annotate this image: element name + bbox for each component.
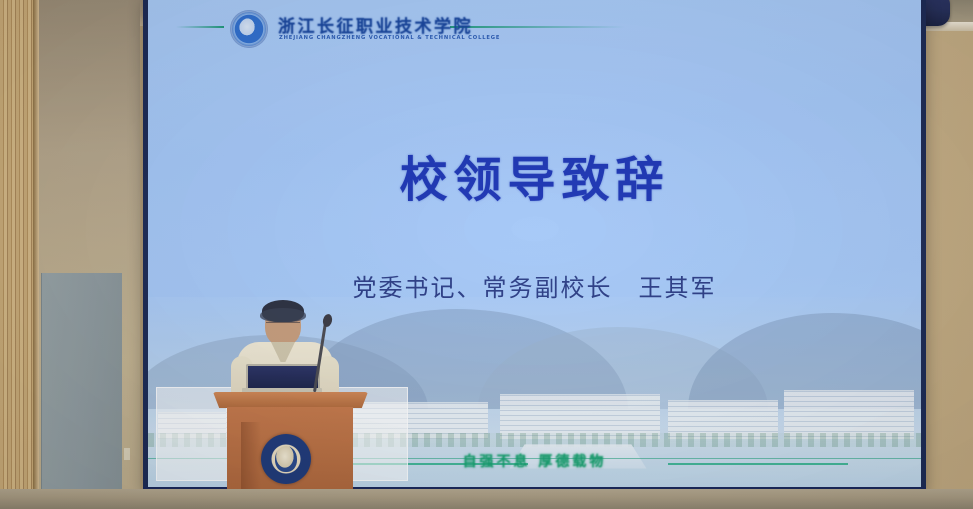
speaker-hair [262,300,304,322]
slide-subtitle: 党委书记、常务副校长 王其军 [148,268,921,303]
school-emblem-icon [261,434,311,484]
institution-name-en: ZHEJIANG CHANGZHENG VOCATIONAL & TECHNIC… [279,35,500,41]
side-door[interactable] [41,273,122,509]
institution-name-cn: 浙江长征职业技术学院 [278,12,473,37]
speaker-glasses-icon [266,322,300,330]
video-frame: 浙江长征职业技术学院 ZHEJIANG CHANGZHENG VOCATIONA… [0,0,973,509]
floor-skirting [0,489,973,509]
wood-slat-wall [0,0,36,509]
header-rule-right [450,26,625,28]
header-rule-left [176,26,224,28]
door-frame-plate [124,448,130,460]
lectern-top [213,392,368,408]
school-crest-icon [230,10,268,48]
slide-header: 浙江长征职业技术学院 ZHEJIANG CHANGZHENG VOCATIONA… [148,4,921,54]
slide-title: 校领导致辞 [148,140,921,210]
